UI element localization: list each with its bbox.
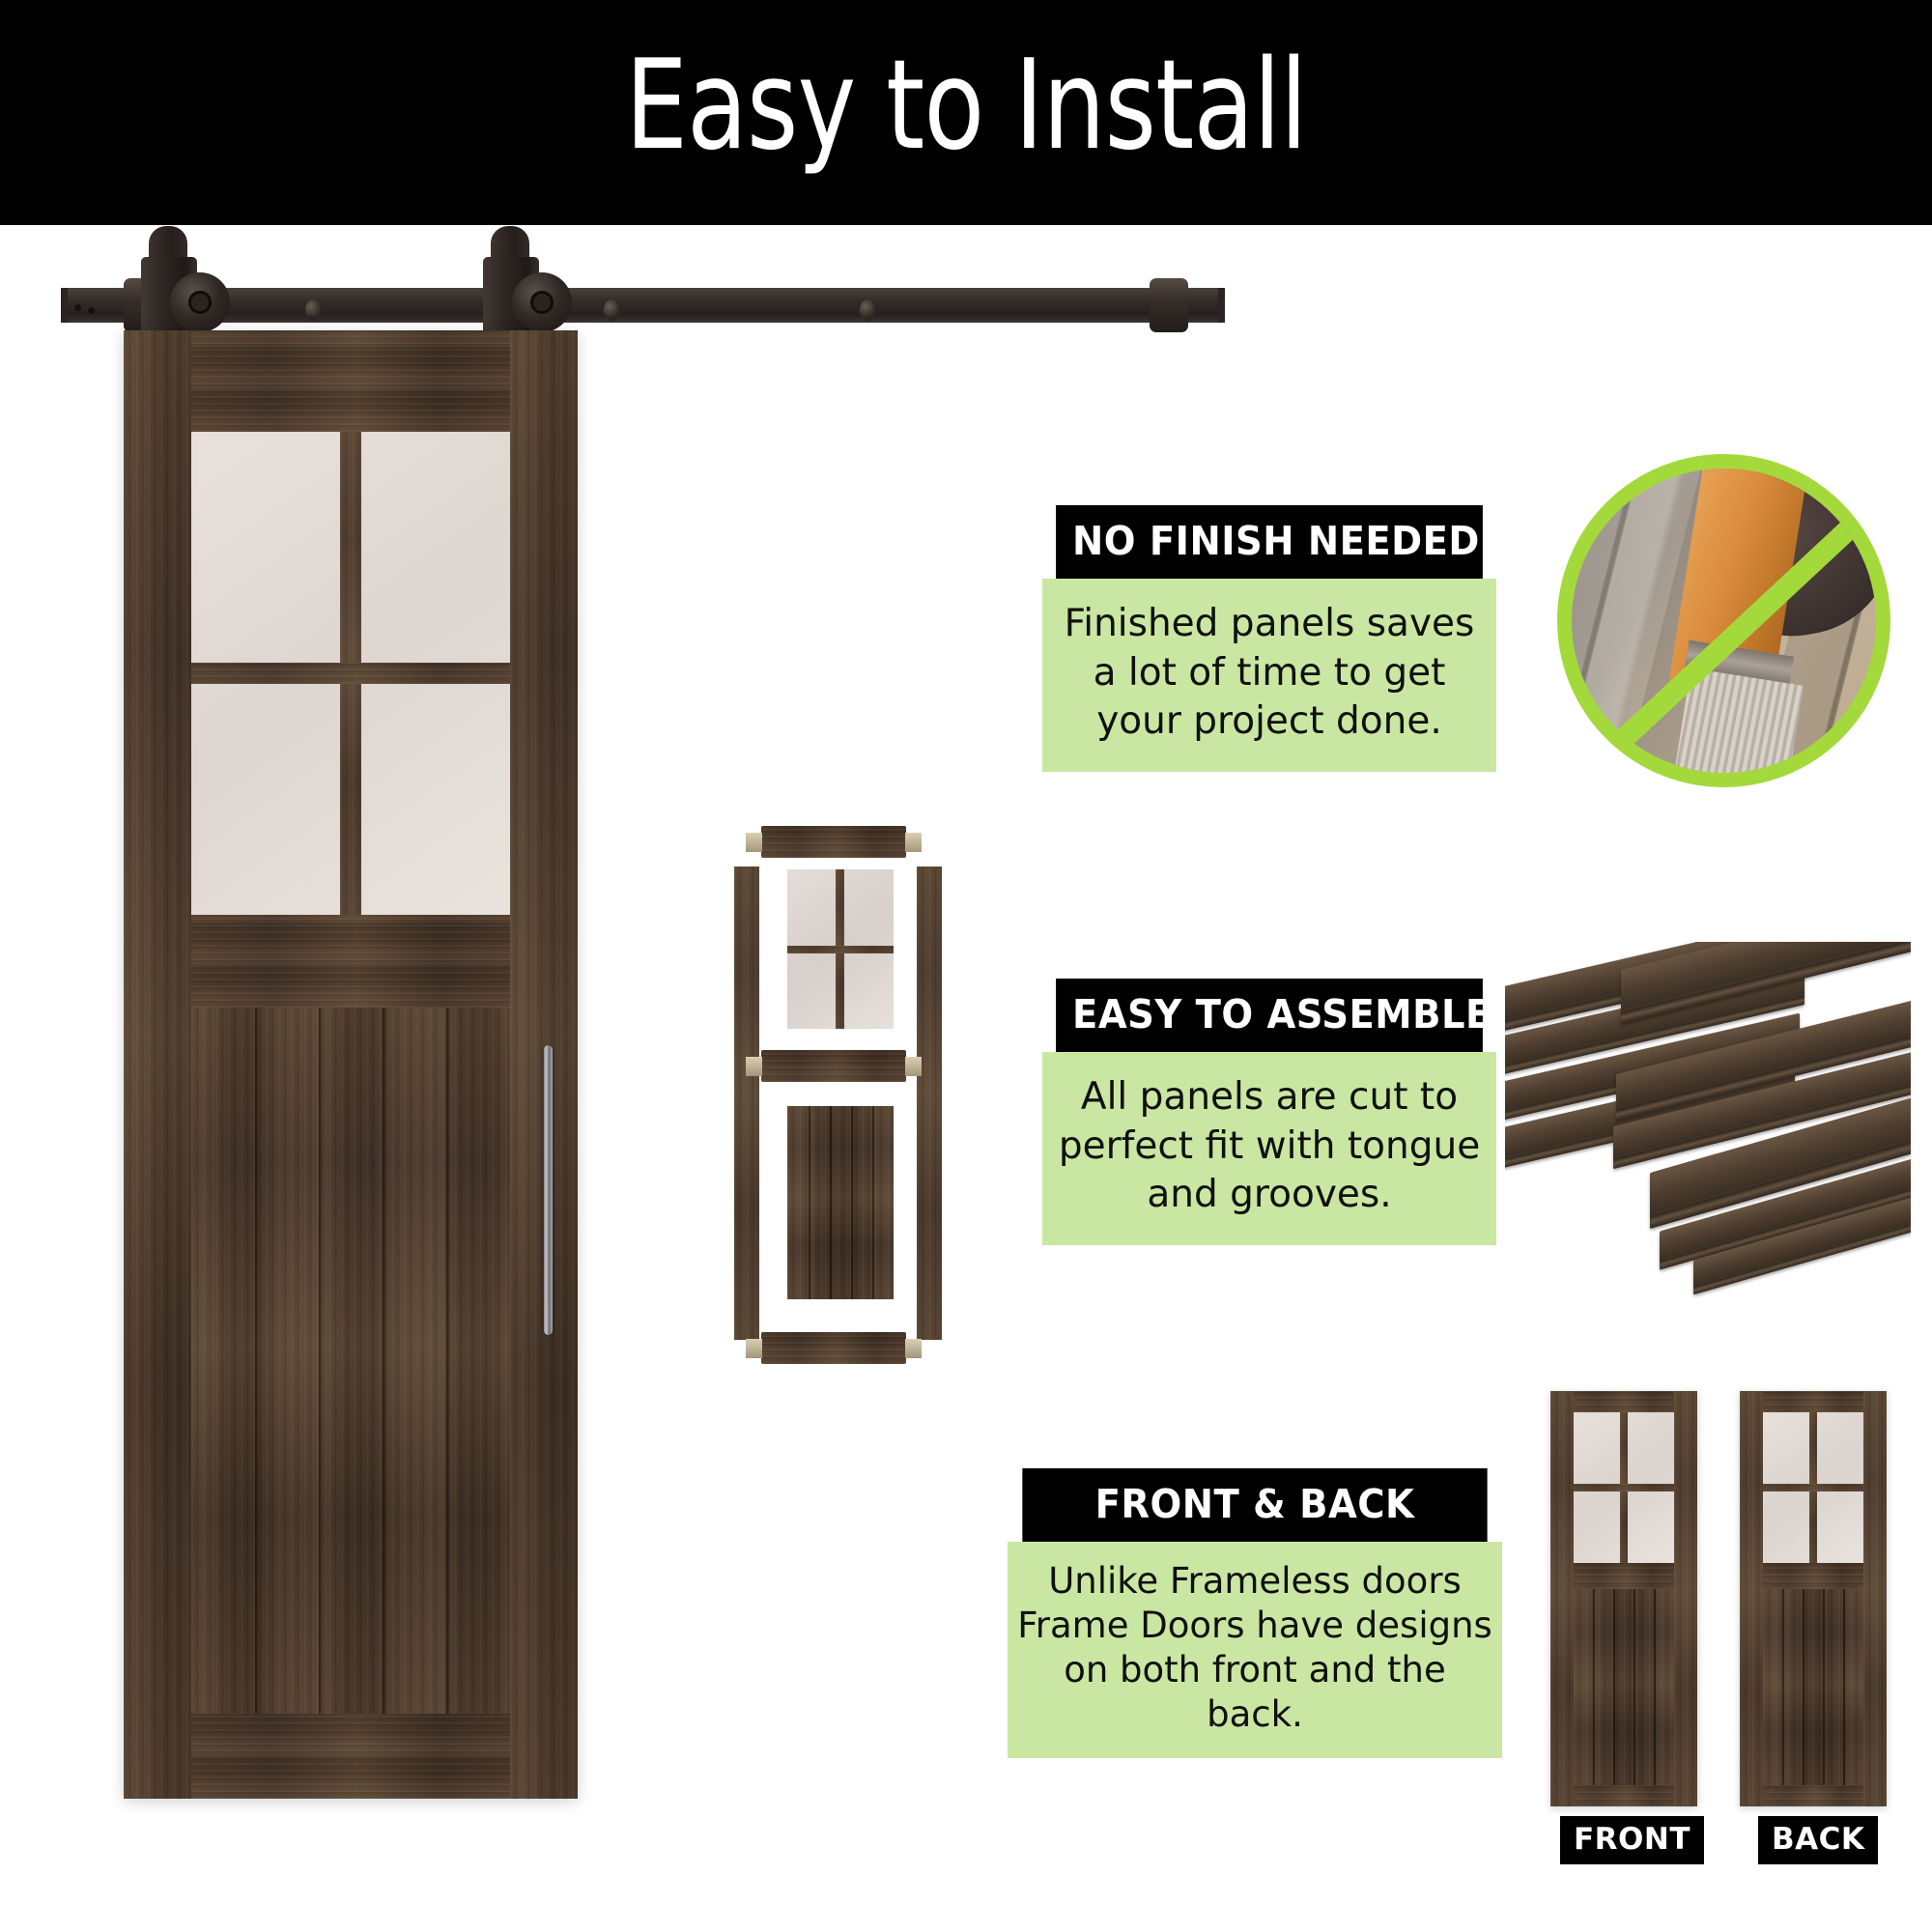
door-rail-middle [191, 915, 510, 1008]
tenon-top-left [746, 833, 762, 852]
door-rail-bottom [191, 1714, 510, 1799]
tongue-and-groove-board-stack [1505, 942, 1911, 1304]
plank-groove-3 [383, 1008, 385, 1714]
thumb-front-stile-left [1550, 1391, 1574, 1806]
thumb-back-groove-4 [1843, 1589, 1845, 1785]
thumb-front-rail-mid [1574, 1563, 1674, 1589]
thumb-back-groove-2 [1803, 1589, 1804, 1785]
exploded-groove-4 [872, 1106, 874, 1299]
exploded-muntin-horizontal [787, 946, 894, 953]
part-left-stile [734, 867, 759, 1340]
rail-mount-bolt-3 [860, 299, 875, 321]
rail-screw-hole-a [74, 304, 81, 311]
thumb-back-muntin-h [1763, 1484, 1863, 1492]
tenon-mid-left [746, 1057, 762, 1076]
thumb-front-groove-1 [1593, 1589, 1595, 1785]
door-rail-top [191, 330, 510, 432]
tenon-bottom-right [905, 1339, 922, 1358]
part-right-stile [917, 867, 942, 1340]
exploded-parts-diagram [734, 826, 942, 1386]
feature-body-front-back: Unlike Frameless doors Frame Doors have … [1008, 1542, 1502, 1758]
rail-stop-collar-right [1150, 278, 1188, 332]
feature-heading-easy-assemble: EASY TO ASSEMBLE [1056, 979, 1483, 1052]
plank-groove-1 [255, 1008, 258, 1714]
thumb-back-rail-bottom [1763, 1785, 1863, 1806]
thumb-back-stile-right [1863, 1391, 1887, 1806]
thumb-back-planks [1763, 1589, 1863, 1785]
front-back-door-thumbnails: FRONT BACK [1550, 1391, 1927, 1806]
exploded-groove-3 [851, 1106, 853, 1299]
door-pull-handle[interactable] [544, 1045, 553, 1335]
door-thumbnail-front [1550, 1391, 1697, 1806]
thumb-front-rail-bottom [1574, 1785, 1674, 1806]
glass-panel-area [191, 432, 510, 915]
thumb-back-rail-top [1763, 1391, 1863, 1412]
feature-body-no-finish: Finished panels saves a lot of time to g… [1042, 579, 1496, 772]
thumb-front-planks [1574, 1589, 1674, 1785]
thumbnail-label-front: FRONT [1560, 1816, 1704, 1864]
no-paint-circle-icon [1557, 454, 1890, 787]
thumb-front-stile-right [1674, 1391, 1697, 1806]
roller-wheel-right [512, 272, 572, 332]
tenon-bottom-left [746, 1339, 762, 1358]
part-plank-panel [787, 1106, 894, 1299]
door-thumbnail-back [1740, 1391, 1887, 1806]
tenon-top-right [905, 833, 922, 852]
header-banner: Easy to Install [0, 0, 1932, 225]
thumb-front-groove-3 [1634, 1589, 1635, 1785]
thumb-front-glass [1574, 1412, 1674, 1563]
thumb-front-rail-top [1574, 1391, 1674, 1412]
part-top-rail [761, 826, 906, 858]
muntin-horizontal [191, 663, 510, 684]
barn-door-rail [61, 288, 1225, 323]
plank-panel-area [191, 1008, 510, 1714]
thumb-front-groove-4 [1654, 1589, 1656, 1785]
feature-body-easy-assemble: All panels are cut to perfect fit with t… [1042, 1052, 1496, 1245]
thumb-back-stile-left [1740, 1391, 1763, 1806]
rail-mount-bolt-2 [604, 299, 619, 321]
feature-heading-front-back: FRONT & BACK [1022, 1468, 1487, 1542]
feature-no-finish-needed: NO FINISH NEEDED Finished panels saves a… [1042, 505, 1496, 772]
tenon-mid-right [905, 1057, 922, 1076]
door-slab [124, 330, 578, 1799]
thumb-front-groove-2 [1613, 1589, 1615, 1785]
roller-wheel-left [170, 272, 230, 332]
feature-heading-no-finish: NO FINISH NEEDED [1056, 505, 1483, 579]
door-stile-left [124, 330, 191, 1799]
thumb-back-glass [1763, 1412, 1863, 1563]
exploded-groove-1 [809, 1106, 810, 1299]
rail-mount-bolt-1 [305, 299, 321, 321]
plank-groove-4 [446, 1008, 449, 1714]
exploded-groove-2 [830, 1106, 832, 1299]
thumb-back-rail-mid [1763, 1563, 1863, 1589]
page-title: Easy to Install [625, 44, 1307, 182]
thumbnail-label-back: BACK [1758, 1816, 1878, 1864]
part-mid-rail [761, 1050, 906, 1082]
rail-screw-hole-b [88, 307, 95, 314]
feature-easy-to-assemble: EASY TO ASSEMBLE All panels are cut to p… [1042, 979, 1496, 1245]
thumb-front-muntin-h [1574, 1484, 1674, 1492]
part-glass-panel [787, 869, 894, 1029]
feature-front-and-back: FRONT & BACK Unlike Frameless doors Fram… [1008, 1468, 1502, 1758]
thumb-back-groove-3 [1823, 1589, 1825, 1785]
rail-end-cap-left [61, 288, 68, 323]
infographic-page: Easy to Install [0, 0, 1932, 1932]
part-bottom-rail [761, 1332, 906, 1364]
rail-end-cap-right [1218, 288, 1225, 323]
plank-groove-2 [319, 1008, 322, 1714]
thumb-back-groove-1 [1782, 1589, 1784, 1785]
